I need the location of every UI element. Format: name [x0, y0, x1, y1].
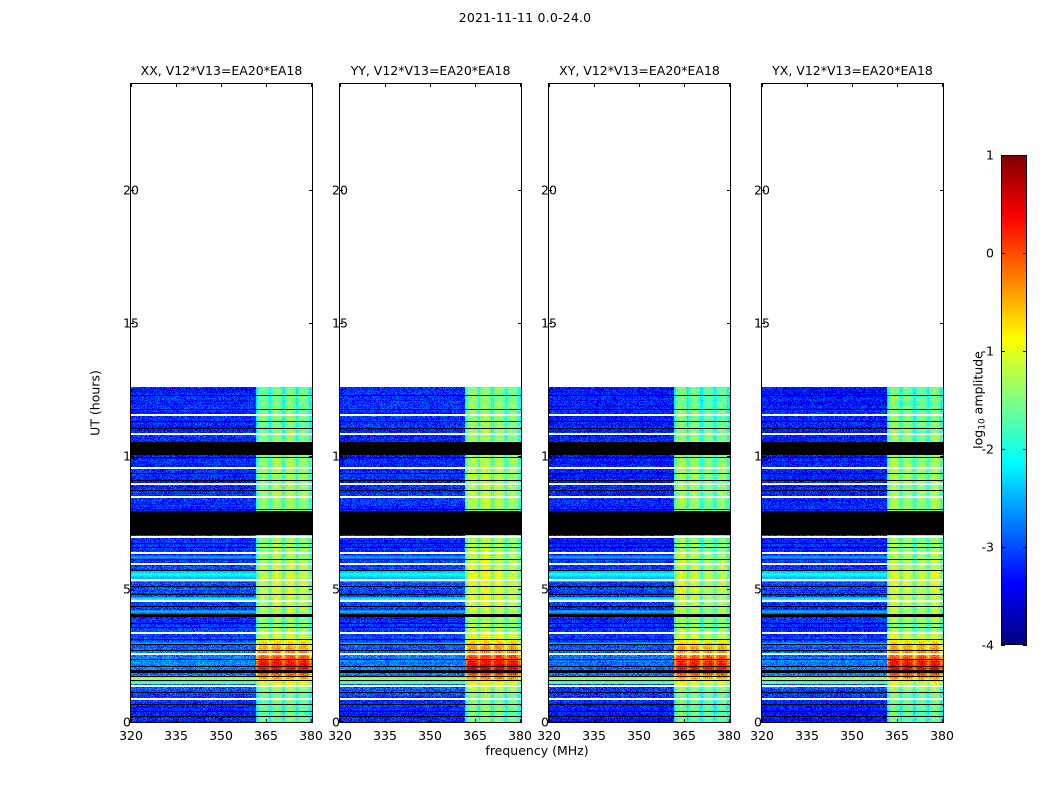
x-tick-label: 350: [840, 728, 864, 743]
x-tick-top: [852, 83, 853, 87]
colorbar-tick-right: [1023, 645, 1027, 646]
x-tick-top: [594, 83, 595, 87]
x-axis-label: frequency (MHz): [485, 743, 588, 758]
x-tick-label: 335: [582, 728, 606, 743]
colorbar-tick: [1001, 155, 1005, 156]
panel-yx: YX, V12*V13=EA20*EA183203353503653800510…: [761, 83, 944, 723]
x-tick-label: 335: [164, 728, 188, 743]
x-tick: [807, 719, 808, 723]
x-tick-top: [311, 83, 312, 87]
x-tick-label: 350: [209, 728, 233, 743]
x-tick-label: 365: [463, 728, 487, 743]
x-tick-label: 365: [885, 728, 909, 743]
panel-xx: XX, V12*V13=EA20*EA183203353503653800510…: [130, 83, 313, 723]
y-tick-right: [727, 456, 731, 457]
y-tick-right: [940, 589, 944, 590]
x-tick-top: [549, 83, 550, 87]
y-tick-right: [940, 722, 944, 723]
colorbar-label-prefix: log: [971, 430, 986, 449]
panel-xx-axes: [130, 83, 313, 723]
x-tick: [266, 719, 267, 723]
panel-yx-waterfall: [762, 84, 943, 722]
y-tick-right: [309, 190, 313, 191]
panel-yy-title: YY, V12*V13=EA20*EA18: [339, 63, 522, 78]
x-tick: [475, 719, 476, 723]
colorbar-tick-right: [1023, 547, 1027, 548]
x-tick-top: [639, 83, 640, 87]
colorbar-tick: [1001, 547, 1005, 548]
x-tick: [852, 719, 853, 723]
x-tick-label: 335: [795, 728, 819, 743]
colorbar-tick-label: 0: [961, 246, 994, 261]
x-tick-label: 320: [119, 728, 143, 743]
y-tick-right: [940, 190, 944, 191]
panel-xx-title: XX, V12*V13=EA20*EA18: [130, 63, 313, 78]
y-tick-right: [727, 722, 731, 723]
x-tick: [221, 719, 222, 723]
x-tick-top: [897, 83, 898, 87]
x-tick-label: 320: [328, 728, 352, 743]
panel-yy: YY, V12*V13=EA20*EA183203353503653800510…: [339, 83, 522, 723]
y-tick-right: [940, 323, 944, 324]
x-tick-top: [475, 83, 476, 87]
panel-xy-waterfall: [549, 84, 730, 722]
x-tick-top: [430, 83, 431, 87]
x-tick-label: 320: [537, 728, 561, 743]
x-tick-top: [807, 83, 808, 87]
x-tick-top: [266, 83, 267, 87]
panel-yx-title: YX, V12*V13=EA20*EA18: [761, 63, 944, 78]
x-tick-label: 380: [299, 728, 323, 743]
y-tick-right: [309, 323, 313, 324]
x-tick-top: [762, 83, 763, 87]
y-tick-right: [309, 456, 313, 457]
y-axis-label: UT (hours): [88, 370, 103, 436]
colorbar-label-suffix: amplitude: [971, 351, 986, 418]
y-tick-right: [518, 323, 522, 324]
x-tick-label: 365: [672, 728, 696, 743]
colorbar-label-sub: 10: [978, 418, 988, 429]
x-tick: [385, 719, 386, 723]
x-tick-top: [340, 83, 341, 87]
x-tick-label: 380: [717, 728, 741, 743]
colorbar-tick-right: [1023, 253, 1027, 254]
x-tick-label: 380: [508, 728, 532, 743]
colorbar-tick-right: [1023, 155, 1027, 156]
figure-canvas: 2021-11-11 0.0-24.0 XX, V12*V13=EA20*EA1…: [0, 0, 1050, 800]
colorbar-tick: [1001, 351, 1005, 352]
x-tick: [594, 719, 595, 723]
panel-yx-axes: [761, 83, 944, 723]
colorbar-tick-right: [1023, 351, 1027, 352]
panel-xx-waterfall: [131, 84, 312, 722]
x-tick-label: 320: [750, 728, 774, 743]
colorbar-tick-label: 1: [961, 148, 994, 163]
colorbar-tick: [1001, 645, 1005, 646]
x-tick-top: [221, 83, 222, 87]
y-tick-right: [727, 589, 731, 590]
panel-xy: XY, V12*V13=EA20*EA183203353503653800510…: [548, 83, 731, 723]
y-tick-right: [940, 456, 944, 457]
x-tick: [684, 719, 685, 723]
colorbar-label: log10 amplitude: [971, 351, 986, 449]
x-tick: [897, 719, 898, 723]
y-tick-right: [727, 190, 731, 191]
panel-xy-axes: [548, 83, 731, 723]
x-tick-top: [131, 83, 132, 87]
x-tick-top: [729, 83, 730, 87]
y-tick-right: [727, 323, 731, 324]
y-tick-right: [518, 190, 522, 191]
colorbar-tick-label: -4: [961, 638, 994, 653]
x-tick-top: [684, 83, 685, 87]
x-tick-top: [385, 83, 386, 87]
colorbar-gradient: [1002, 156, 1026, 644]
x-tick-label: 350: [627, 728, 651, 743]
y-tick-right: [309, 722, 313, 723]
colorbar-tick-right: [1023, 449, 1027, 450]
colorbar-tick: [1001, 449, 1005, 450]
x-tick-top: [942, 83, 943, 87]
panel-xy-title: XY, V12*V13=EA20*EA18: [548, 63, 731, 78]
colorbar-tick: [1001, 253, 1005, 254]
figure-suptitle: 2021-11-11 0.0-24.0: [0, 10, 1050, 25]
x-tick-label: 380: [930, 728, 954, 743]
x-tick-label: 335: [373, 728, 397, 743]
panel-yy-waterfall: [340, 84, 521, 722]
x-tick: [639, 719, 640, 723]
x-tick-top: [520, 83, 521, 87]
colorbar: [1001, 155, 1027, 645]
panel-yy-axes: [339, 83, 522, 723]
x-tick-top: [176, 83, 177, 87]
colorbar-tick-label: -3: [961, 540, 994, 555]
y-tick-right: [518, 456, 522, 457]
y-tick-right: [518, 722, 522, 723]
x-tick: [176, 719, 177, 723]
y-tick-right: [309, 589, 313, 590]
y-tick-right: [518, 589, 522, 590]
x-tick-label: 350: [418, 728, 442, 743]
x-tick-label: 365: [254, 728, 278, 743]
x-tick: [430, 719, 431, 723]
